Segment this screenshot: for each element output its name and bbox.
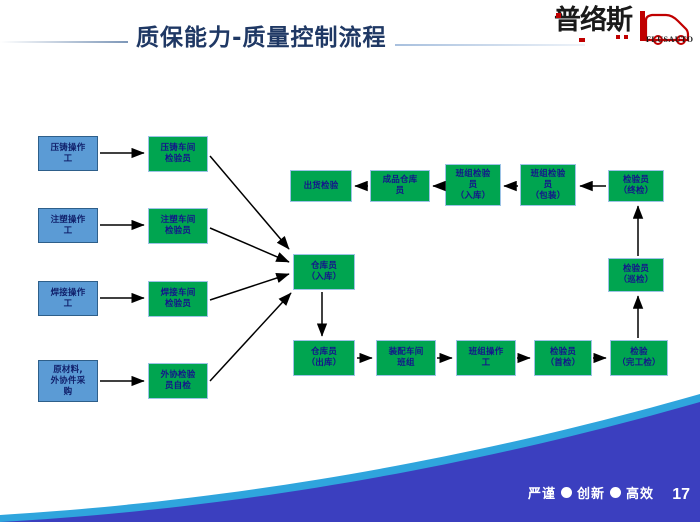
flow-box-inspector-patrol[interactable]: 检验员 （巡检） — [608, 258, 664, 292]
flow-box-inspection-completion[interactable]: 检验 （完工检） — [610, 340, 668, 376]
company-logo: 普络斯 FLUSAUTO — [554, 4, 692, 52]
bullet-dot-icon — [610, 487, 621, 498]
footer-slogan-1: 严谨 — [528, 483, 556, 502]
flow-box-injection-inspector[interactable]: 注塑车间 检验员 — [148, 208, 208, 244]
logo-subtext: FLUSAUTO — [646, 35, 693, 44]
slide-canvas: 质保能力-质量控制流程 普络斯 FLUSAUTO 压铸操作 工 注塑操作 工 焊… — [0, 0, 700, 522]
flow-box-welding-inspector[interactable]: 焊接车间 检验员 — [148, 281, 208, 317]
footer-slogan: 严谨 创新 高效 — [528, 483, 654, 502]
page-title: 质保能力-质量控制流程 — [136, 18, 387, 52]
bullet-dot-icon — [561, 487, 572, 498]
page-number: 17 — [672, 486, 690, 504]
flow-box-injection-operator[interactable]: 注塑操作 工 — [38, 208, 98, 243]
header-rule-left — [0, 41, 128, 43]
flow-box-inspector-final[interactable]: 检验员 （终检） — [608, 170, 664, 202]
flow-box-finished-goods-keeper[interactable]: 成品仓库 员 — [370, 170, 430, 202]
flow-box-assembly-workshop-team[interactable]: 装配车间 班组 — [376, 340, 436, 376]
flow-box-die-cast-operator[interactable]: 压铸操作 工 — [38, 136, 98, 171]
flow-box-shipment-inspection[interactable]: 出货检验 — [290, 170, 352, 202]
flow-box-die-cast-inspector[interactable]: 压铸车间 检验员 — [148, 136, 208, 172]
flow-box-warehouse-in[interactable]: 仓库员 （入库） — [293, 254, 355, 290]
truck-icon — [554, 4, 692, 52]
footer-slogan-3: 高效 — [626, 483, 654, 502]
footer-slogan-2: 创新 — [577, 483, 605, 502]
flow-box-inspector-first[interactable]: 检验员 （首检） — [534, 340, 592, 376]
flow-box-warehouse-out[interactable]: 仓库员 （出库） — [293, 340, 355, 376]
flow-box-team-operator[interactable]: 班组操作 工 — [456, 340, 516, 376]
flow-box-welding-operator[interactable]: 焊接操作 工 — [38, 281, 98, 316]
flow-box-team-inspector-instock[interactable]: 班组检验 员 （入库） — [445, 164, 501, 206]
flow-box-team-inspector-packing[interactable]: 班组检验 员 （包装） — [520, 164, 576, 206]
